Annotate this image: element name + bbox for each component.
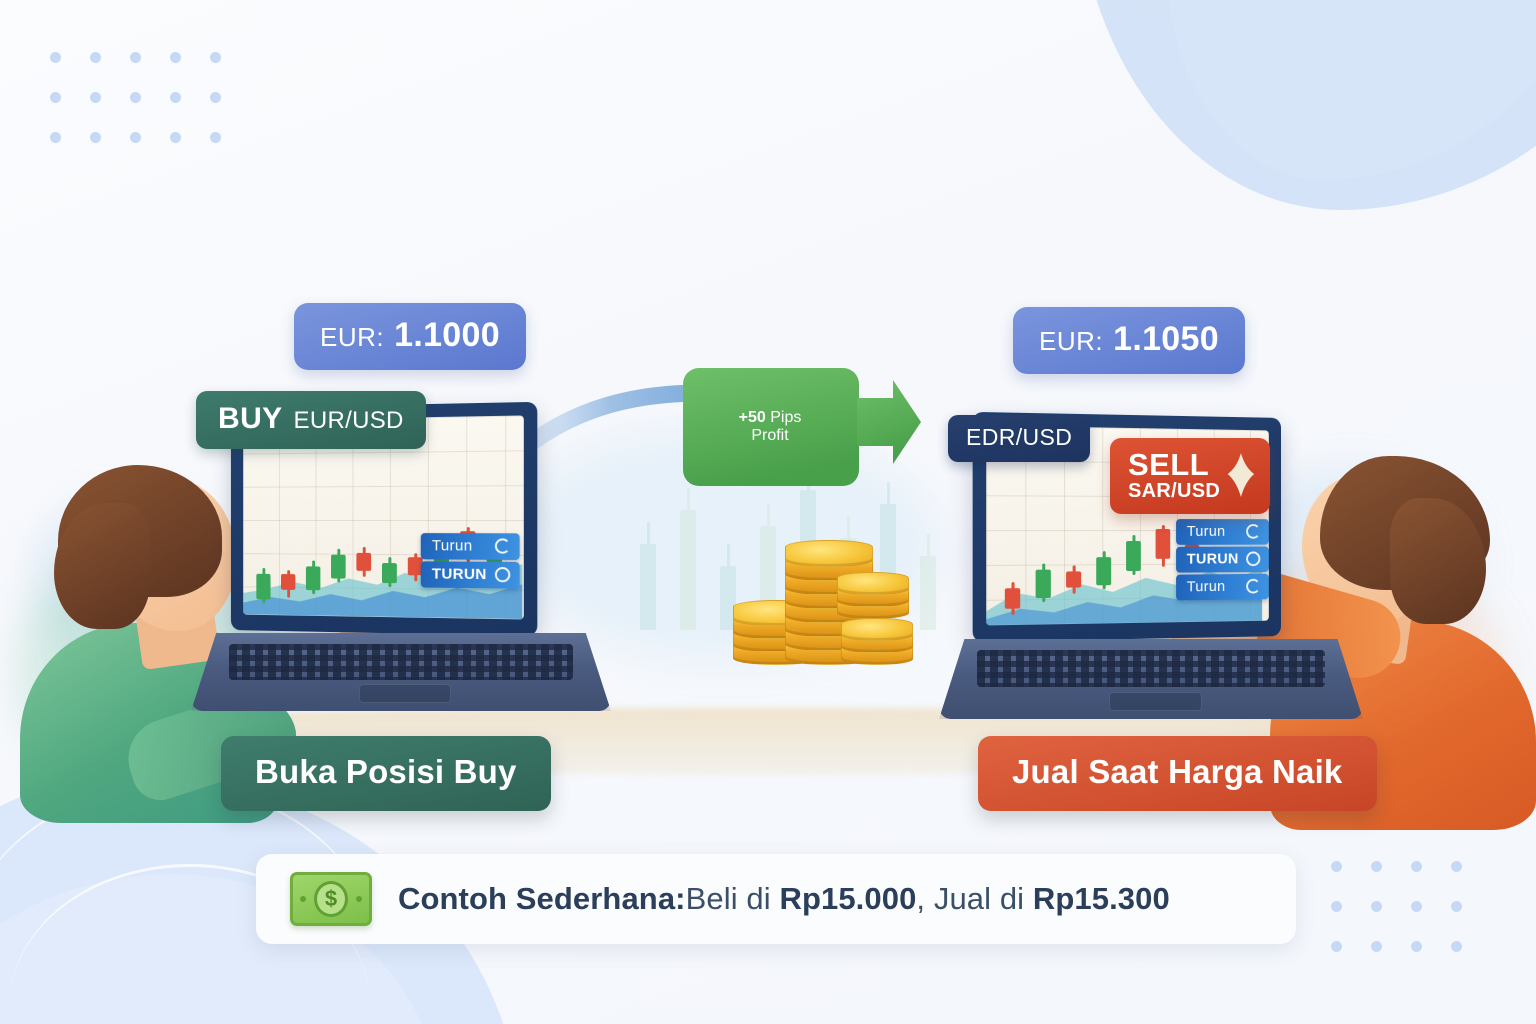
signal-chips-right: Turun TURUN Turun — [1176, 519, 1269, 600]
money-bill-pip-right — [356, 896, 362, 902]
signal-chip[interactable]: Turun — [1176, 519, 1269, 545]
buy-action-tag: BUY EUR/USD — [196, 391, 426, 449]
signal-chips-left: Turun TURUN — [421, 533, 520, 589]
footer-body-2: , Jual di — [916, 881, 1032, 916]
signal-chip-label: TURUN — [432, 565, 487, 583]
down-arrow-icon — [1226, 448, 1256, 502]
sell-action-tag: SELL SAR/USD — [1110, 438, 1270, 514]
partial-circle-icon — [1246, 579, 1260, 594]
price-currency-label-right: EUR: — [1039, 326, 1103, 357]
footer-buy-price: Rp15.000 — [779, 881, 916, 916]
laptop-left-trackpad[interactable] — [359, 684, 451, 703]
dot-grid-bottom-right — [1331, 861, 1462, 952]
footer-body-1: Beli di — [686, 881, 780, 916]
price-value-left: 1.1000 — [394, 316, 500, 355]
signal-chip-label: Turun — [1187, 523, 1226, 540]
partial-circle-icon — [495, 538, 510, 553]
footer-example-bar: $ Contoh Sederhana:Beli di Rp15.000, Jua… — [256, 854, 1296, 944]
circle-icon — [495, 567, 510, 582]
footer-text: Contoh Sederhana:Beli di Rp15.000, Jual … — [398, 881, 1170, 917]
price-badge-left: EUR: 1.1000 — [294, 303, 526, 370]
signal-chip-label: Turun — [432, 537, 473, 554]
profit-unit: Pips — [770, 409, 801, 426]
price-currency-label-left: EUR: — [320, 322, 384, 353]
buy-pair-label: EUR/USD — [294, 407, 404, 435]
signal-chip-label: TURUN — [1187, 551, 1239, 568]
signal-chip[interactable]: Turun — [421, 533, 520, 560]
money-bill-pip-left — [300, 896, 306, 902]
profit-amount: +50 — [739, 409, 766, 426]
footer-prefix: Contoh Sederhana: — [398, 881, 686, 916]
price-badge-right: EUR: 1.1050 — [1013, 307, 1245, 374]
footer-sell-price: Rp15.300 — [1033, 881, 1170, 916]
signal-chip[interactable]: TURUN — [1176, 547, 1269, 573]
coin-stack-right-lower — [841, 613, 913, 665]
laptop-right-trackpad[interactable] — [1109, 692, 1202, 711]
laptop-right-keyboard[interactable] — [977, 650, 1325, 687]
money-bill-icon: $ — [290, 872, 372, 926]
laptop-right-base — [939, 639, 1363, 719]
caption-left: Buka Posisi Buy — [221, 736, 551, 811]
pair-tag-right: EDR/USD — [948, 415, 1090, 462]
signal-chip-label: Turun — [1187, 578, 1226, 595]
coin-stacks — [733, 525, 903, 665]
price-value-right: 1.1050 — [1113, 320, 1219, 359]
profit-badge: +50 Pips Profit — [681, 366, 921, 493]
signal-chip[interactable]: Turun — [1176, 574, 1269, 601]
profit-amount-line: +50 Pips — [739, 409, 802, 427]
laptop-left-base — [191, 633, 611, 711]
coin-stack-right-upper — [837, 565, 909, 619]
sell-action-label: SELL — [1128, 449, 1220, 481]
partial-circle-icon — [1246, 524, 1260, 539]
profit-label: Profit — [751, 427, 788, 445]
dot-grid-top-left — [50, 52, 221, 143]
circle-icon — [1246, 551, 1260, 566]
caption-right: Jual Saat Harga Naik — [978, 736, 1377, 811]
buy-action-label: BUY — [218, 402, 283, 436]
signal-chip[interactable]: TURUN — [421, 561, 520, 588]
sell-pair-label: SAR/USD — [1128, 481, 1220, 501]
money-bill-dollar-sign: $ — [314, 881, 348, 917]
infographic-canvas: EUR: 1.1000 EUR: 1.1050 — [0, 0, 1536, 1024]
laptop-left-keyboard[interactable] — [229, 644, 573, 680]
